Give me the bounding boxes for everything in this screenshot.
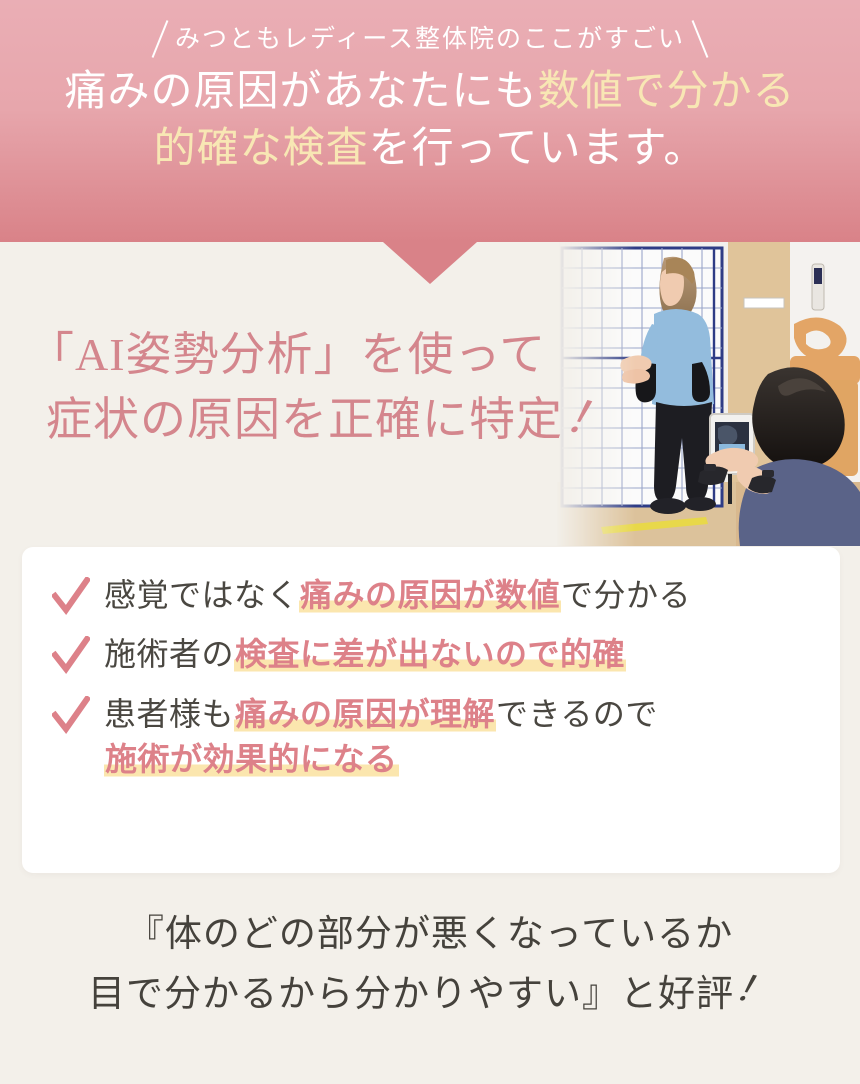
- benefits-list: 感覚ではなく痛みの原因が数値で分かる 施術者の検査に差が出ないので的確 患者様も…: [52, 573, 810, 783]
- benefit-2-seg-2-highlight: 検査に差が出ないので的確: [234, 635, 626, 673]
- hero-banner: みつともレディース整体院のここがすごい 痛みの原因があなたにも数値で分かる 的確…: [0, 0, 860, 242]
- hero-eyebrow-text: みつともレディース整体院のここがすごい: [175, 27, 685, 52]
- hero-content: みつともレディース整体院のここがすごい 痛みの原因があなたにも数値で分かる 的確…: [0, 0, 860, 242]
- hero-headline: 痛みの原因があなたにも数値で分かる 的確な検査を行っています。: [64, 64, 795, 177]
- section-heading-line-2: 症状の原因を正確に特定！: [28, 387, 612, 452]
- section-heading-line-1: 「AI姿勢分析」を使って: [28, 322, 612, 387]
- slash-left-icon: [152, 20, 169, 58]
- list-item-text: 感覚ではなく痛みの原因が数値で分かる: [104, 573, 691, 618]
- hero-headline-line1-accent: 数値で分かる: [538, 69, 796, 115]
- list-item: 患者様も痛みの原因が理解できるので施術が効果的になる: [52, 692, 810, 783]
- benefit-3-seg-3: できるので: [496, 695, 658, 733]
- section-heading: 「AI姿勢分析」を使って 症状の原因を正確に特定！: [28, 322, 612, 453]
- benefit-1-seg-2-highlight: 痛みの原因が数値: [299, 576, 561, 614]
- hero-headline-line1-plain: 痛みの原因があなたにも: [64, 69, 537, 115]
- benefit-1-seg-1: 感覚ではなく: [104, 576, 299, 614]
- slash-right-icon: [692, 20, 709, 58]
- hero-headline-line2-plain: を行っています。: [369, 126, 707, 172]
- hero-eyebrow: みつともレディース整体院のここがすごい: [159, 18, 701, 60]
- testimonial-line2-text: 目で分かるから分かりやすい』と好評: [88, 974, 734, 1015]
- testimonial-quote: 『体のどの部分が悪くなっているか 目で分かるから分かりやすい』と好評！: [0, 905, 860, 1025]
- check-icon: [52, 696, 90, 736]
- hero-headline-line-2: 的確な検査を行っています。: [64, 121, 795, 178]
- section-heading-line2-text: 症状の原因を正確に特定: [46, 394, 563, 445]
- exclamation-mark-icon: ！: [556, 382, 619, 457]
- check-icon: [52, 577, 90, 617]
- list-item: 感覚ではなく痛みの原因が数値で分かる: [52, 573, 810, 618]
- benefits-card: 感覚ではなく痛みの原因が数値で分かる 施術者の検査に差が出ないので的確 患者様も…: [22, 547, 840, 873]
- benefit-2-seg-1: 施術者の: [104, 635, 234, 673]
- check-icon: [52, 636, 90, 676]
- hero-headline-line2-accent: 的確な検査: [154, 126, 369, 172]
- list-item-text: 患者様も痛みの原因が理解できるので施術が効果的になる: [104, 692, 658, 783]
- benefit-3-seg-2-highlight: 痛みの原因が理解: [234, 695, 496, 733]
- benefit-1-seg-3: で分かる: [561, 576, 691, 614]
- exclamation-mark-icon: ！: [728, 958, 779, 1025]
- testimonial-line-2: 目で分かるから分かりやすい』と好評！: [0, 965, 860, 1025]
- benefit-3-seg-4-highlight: 施術が効果的になる: [104, 740, 399, 778]
- list-item-text: 施術者の検査に差が出ないので的確: [104, 632, 626, 677]
- chevron-down-pointer-icon: [383, 242, 477, 284]
- hero-headline-line-1: 痛みの原因があなたにも数値で分かる: [64, 64, 795, 121]
- list-item: 施術者の検査に差が出ないので的確: [52, 632, 810, 677]
- testimonial-line-1: 『体のどの部分が悪くなっているか: [0, 905, 860, 965]
- benefit-3-seg-1: 患者様も: [104, 695, 234, 733]
